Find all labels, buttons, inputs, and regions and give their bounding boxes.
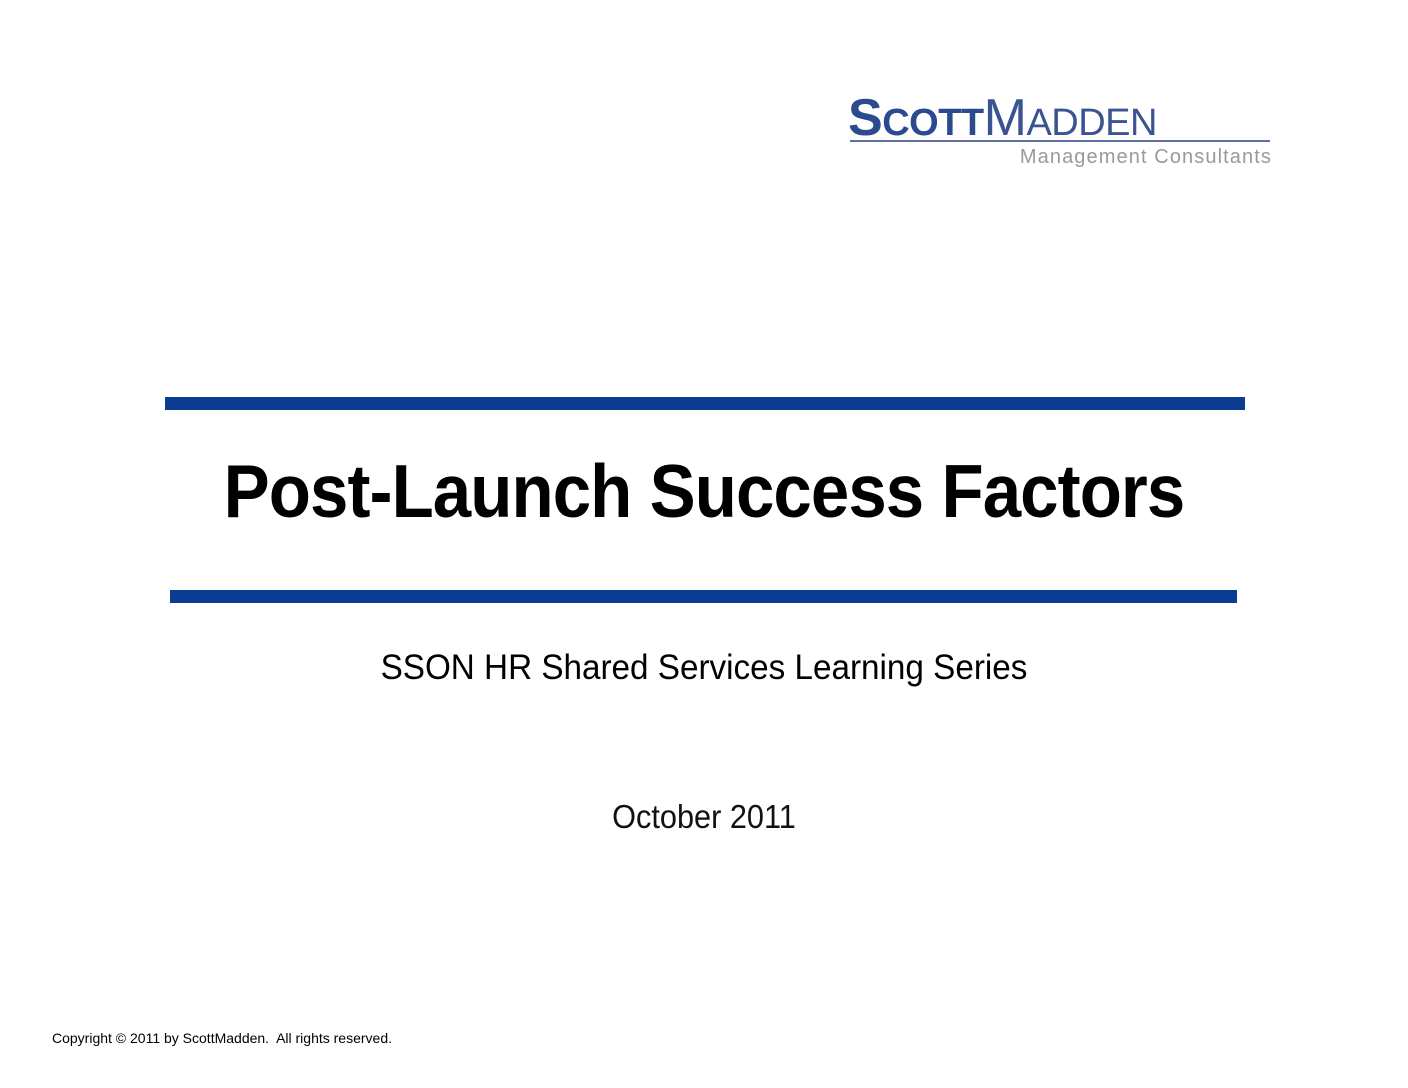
slide-subtitle: SSON HR Shared Services Learning Series [35, 648, 1373, 688]
slide-date: October 2011 [49, 798, 1358, 836]
logo-scott-initial: S [848, 89, 882, 147]
logo-tagline: Management Consultants [848, 146, 1272, 169]
title-slide: SCOTTMADDEN Management Consultants Post-… [0, 0, 1408, 1088]
logo-scott-rest: COTT [882, 102, 983, 144]
slide-title: Post-Launch Success Factors [56, 448, 1351, 534]
accent-bar-top [165, 397, 1245, 410]
logo-word-madden: MADDEN [984, 122, 1157, 139]
accent-bar-bottom [170, 590, 1237, 603]
logo-word-scott: SCOTT [848, 122, 984, 139]
logo-madden-rest: ADDEN [1026, 102, 1157, 144]
logo-underline-rule [850, 140, 1270, 142]
scottmadden-logo: SCOTTMADDEN [848, 92, 1272, 144]
logo-wordmark: SCOTTMADDEN [848, 92, 1272, 144]
logo-madden-initial: M [984, 89, 1027, 147]
copyright-notice: Copyright © 2011 by ScottMadden. All rig… [52, 1030, 392, 1046]
